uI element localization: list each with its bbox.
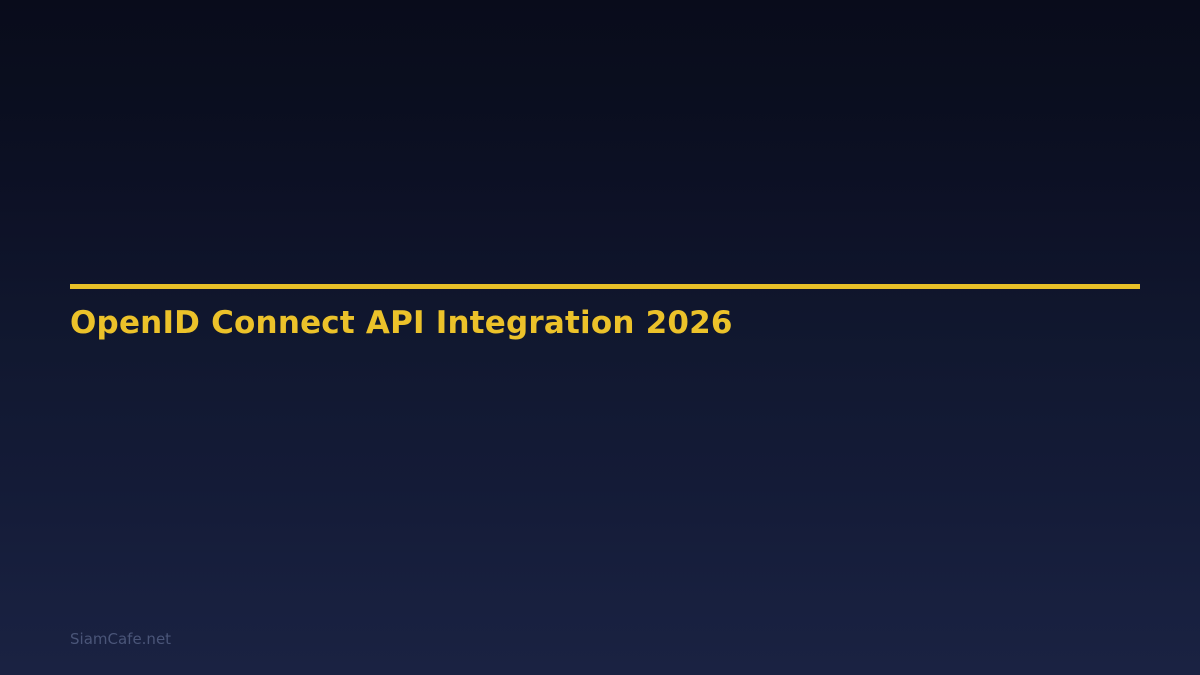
slide-canvas: OpenID Connect API Integration 2026 Siam…	[0, 0, 1200, 675]
accent-rule	[70, 284, 1140, 289]
title-block: OpenID Connect API Integration 2026	[70, 284, 1140, 289]
footer-watermark: SiamCafe.net	[70, 630, 171, 648]
page-title: OpenID Connect API Integration 2026	[70, 305, 733, 342]
